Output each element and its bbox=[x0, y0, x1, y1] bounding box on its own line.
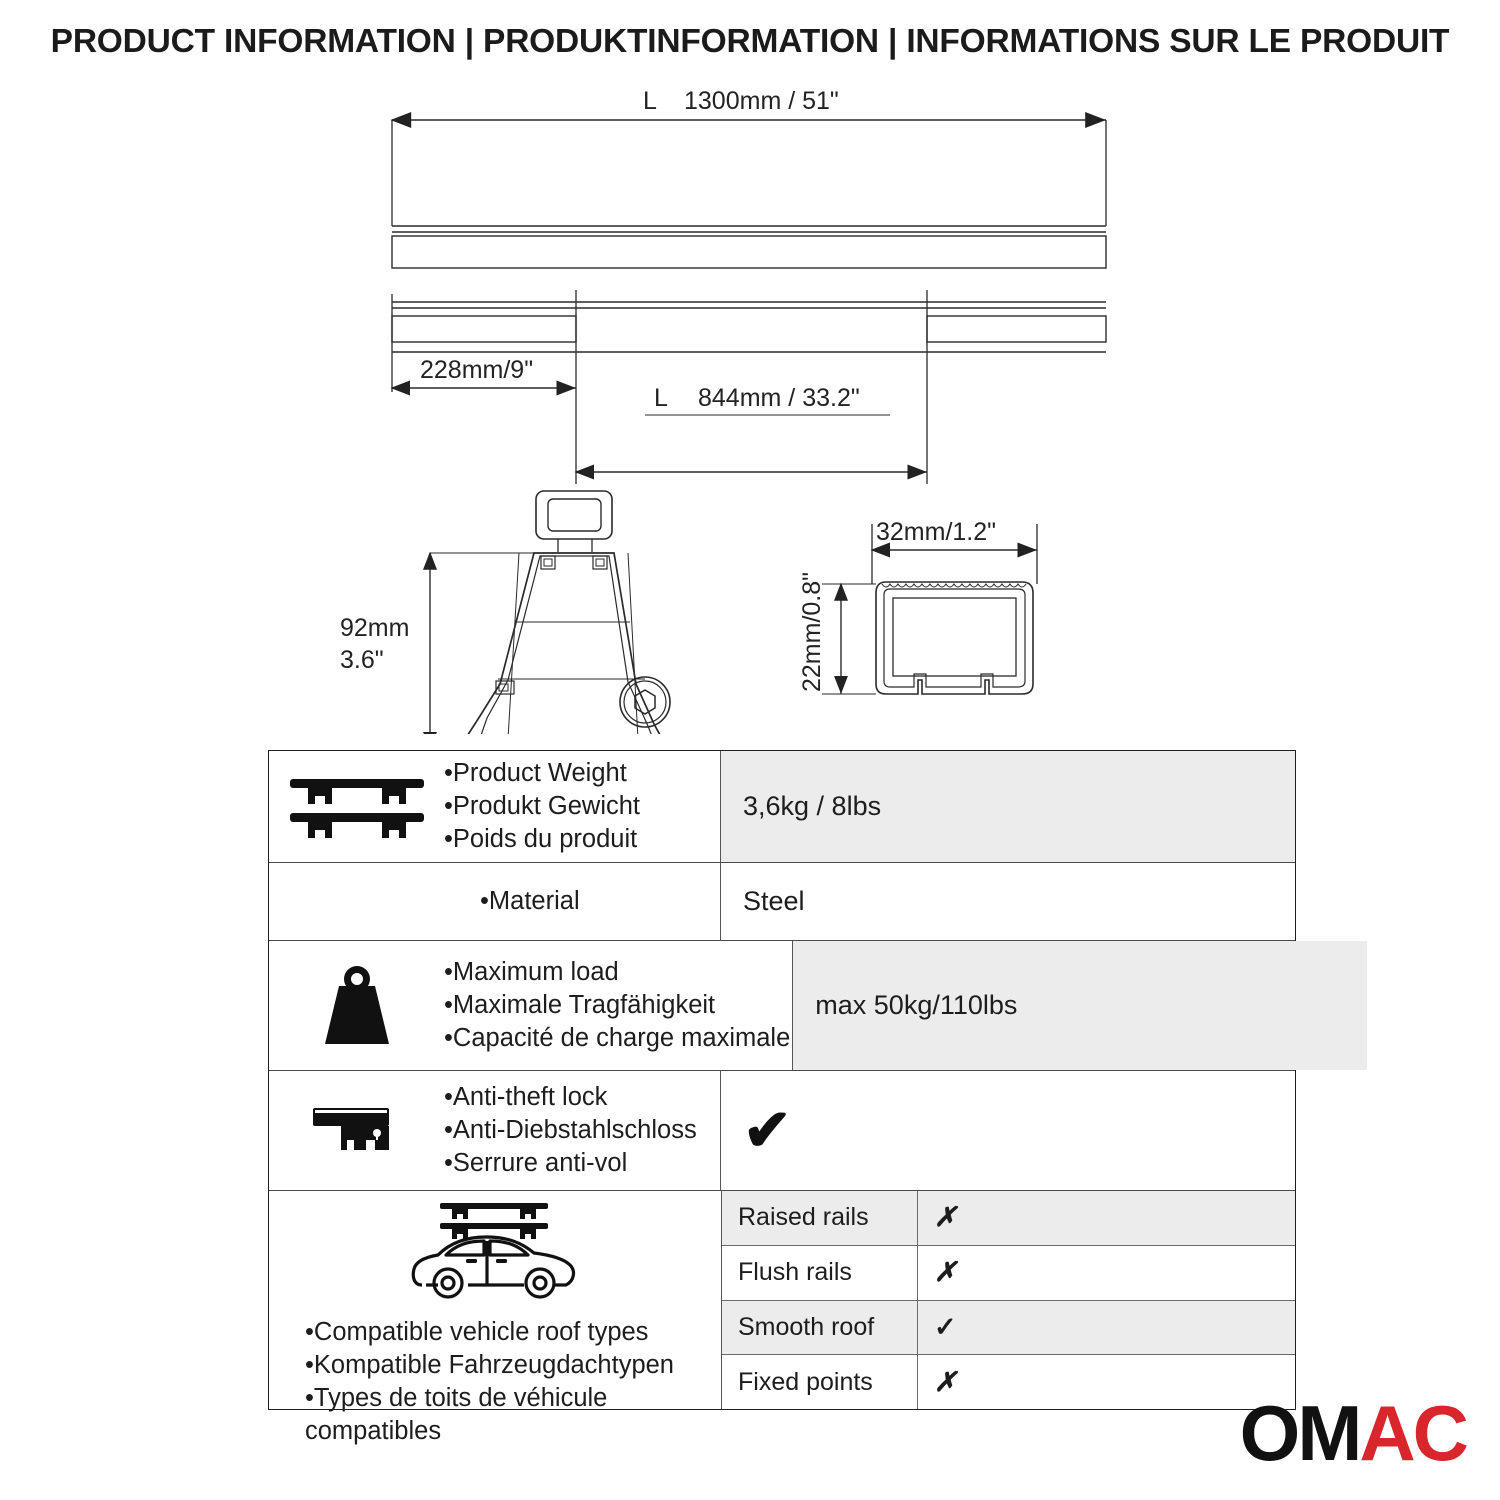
omac-logo: OMAC bbox=[1240, 1394, 1466, 1472]
compat-item: Smooth roof ✓ bbox=[722, 1301, 1295, 1356]
row-labels: •Anti-theft lock •Anti-Diebstahlschloss … bbox=[444, 1071, 720, 1190]
compat-item-name: Fixed points bbox=[722, 1355, 918, 1409]
profile-height-value: 22mm/0.8" bbox=[798, 572, 826, 692]
logo-part-om: OM bbox=[1240, 1389, 1360, 1477]
label-line: •Poids du produit bbox=[444, 823, 718, 856]
foot-height-line1: 92mm bbox=[340, 614, 409, 642]
product-weight-value: 3,6kg / 8lbs bbox=[743, 791, 881, 822]
technical-drawings: L 1300mm / 51" 228mm/9" L 844mm / 33.2" … bbox=[0, 84, 1500, 734]
label-line: •Types de toits de véhicule bbox=[305, 1382, 721, 1415]
compat-left: •Compatible vehicle roof types •Kompatib… bbox=[269, 1191, 721, 1409]
row-value-cell: max 50kg/110lbs bbox=[792, 941, 1367, 1070]
label-line: •Capacité de charge maximale bbox=[444, 1022, 790, 1055]
table-row: •Product Weight •Produkt Gewicht •Poids … bbox=[269, 751, 1295, 863]
roof-bars-icon bbox=[269, 751, 444, 862]
table-row: •Maximum load •Maximale Tragfähigkeit •C… bbox=[269, 941, 1295, 1071]
label-line: •Compatible vehicle roof types bbox=[305, 1316, 721, 1349]
row-labels: •Product Weight •Produkt Gewicht •Poids … bbox=[444, 751, 720, 862]
spread-value: 844mm / 33.2" bbox=[698, 384, 860, 412]
label-line: •Produkt Gewicht bbox=[444, 790, 718, 823]
weight-icon bbox=[269, 941, 444, 1070]
compat-item-mark: ✗ bbox=[918, 1246, 1295, 1300]
row-value-cell: 3,6kg / 8lbs bbox=[720, 751, 1295, 862]
check-icon: ✓ bbox=[934, 1312, 957, 1343]
spread-prefix: L bbox=[654, 384, 668, 412]
table-row-compatibility: •Compatible vehicle roof types •Kompatib… bbox=[269, 1191, 1295, 1409]
page-title: PRODUCT INFORMATION | PRODUKTINFORMATION… bbox=[51, 23, 1450, 61]
label-line: •Product Weight bbox=[444, 757, 718, 790]
bar-length-prefix: L bbox=[643, 87, 657, 115]
table-row: •Anti-theft lock •Anti-Diebstahlschloss … bbox=[269, 1071, 1295, 1191]
compat-item-mark: ✓ bbox=[918, 1301, 1295, 1355]
compat-item-mark: ✗ bbox=[918, 1355, 1295, 1409]
compat-item-name: Raised rails bbox=[722, 1191, 918, 1245]
bar-length-value: 1300mm / 51" bbox=[684, 87, 839, 115]
compat-item: Fixed points ✗ bbox=[722, 1355, 1295, 1409]
label-line: •Maximale Tragfähigkeit bbox=[444, 989, 790, 1022]
cross-icon: ✗ bbox=[934, 1257, 957, 1288]
label-line: •Anti-Diebstahlschloss bbox=[444, 1114, 718, 1147]
profile-width-value: 32mm/1.2" bbox=[876, 518, 996, 546]
row-value-cell: ✔ bbox=[720, 1071, 1295, 1190]
label-line: •Serrure anti-vol bbox=[444, 1147, 718, 1180]
label-line: •Material bbox=[480, 885, 718, 918]
label-line: compatibles bbox=[305, 1415, 721, 1448]
compat-item: Raised rails ✗ bbox=[722, 1191, 1295, 1246]
compat-labels: •Compatible vehicle roof types •Kompatib… bbox=[269, 1316, 721, 1448]
compat-item-name: Smooth roof bbox=[722, 1301, 918, 1355]
page-header: PRODUCT INFORMATION | PRODUKTINFORMATION… bbox=[0, 0, 1500, 84]
product-information-page: PRODUCT INFORMATION | PRODUKTINFORMATION… bbox=[0, 0, 1500, 1500]
compat-item-mark: ✗ bbox=[918, 1191, 1295, 1245]
row-labels: •Maximum load •Maximale Tragfähigkeit •C… bbox=[444, 941, 792, 1070]
cross-icon: ✗ bbox=[934, 1202, 957, 1233]
max-load-value: max 50kg/110lbs bbox=[815, 990, 1017, 1021]
foot-height-line2: 3.6" bbox=[340, 646, 384, 674]
compat-item-name: Flush rails bbox=[722, 1246, 918, 1300]
cross-icon: ✗ bbox=[934, 1367, 957, 1398]
compat-item: Flush rails ✗ bbox=[722, 1246, 1295, 1301]
label-line: •Anti-theft lock bbox=[444, 1081, 718, 1114]
label-line: •Kompatible Fahrzeugdachtypen bbox=[305, 1349, 721, 1382]
anti-theft-check-mark: ✔ bbox=[743, 1102, 792, 1160]
compat-matrix: Raised rails ✗ Flush rails ✗ Smooth roof… bbox=[721, 1191, 1295, 1409]
specifications-table: •Product Weight •Produkt Gewicht •Poids … bbox=[268, 750, 1296, 1410]
logo-part-ac: AC bbox=[1359, 1389, 1466, 1477]
car-with-bars-icon bbox=[404, 1197, 586, 1310]
material-value: Steel bbox=[743, 886, 805, 917]
no-icon-placeholder bbox=[269, 863, 444, 940]
row-labels: •Material bbox=[444, 863, 720, 940]
row-value-cell: Steel bbox=[720, 863, 1295, 940]
table-row: •Material Steel bbox=[269, 863, 1295, 941]
label-line: •Maximum load bbox=[444, 956, 790, 989]
end-offset-value: 228mm/9" bbox=[420, 356, 533, 384]
lock-icon bbox=[269, 1071, 444, 1190]
